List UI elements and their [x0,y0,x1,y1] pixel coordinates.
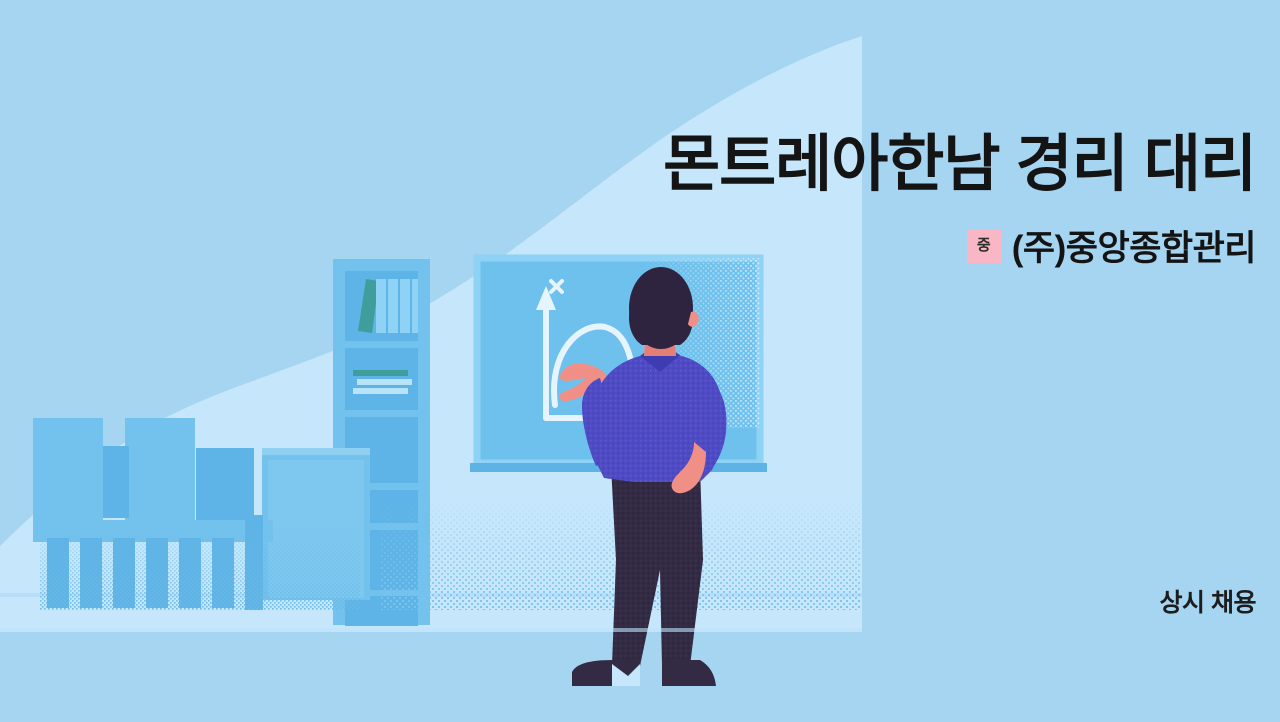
page-title: 몬트레아한남 경리 대리 [356,132,1256,199]
job-poster: 몬트레아한남 경리 대리 중 (주)중앙종합관리 상시 채용 [0,0,1280,722]
bookshelf-papers [353,370,412,394]
bookshelf-books [358,279,418,333]
chair-dither [40,520,360,610]
company-name: (주)중앙종합관리 [1012,220,1256,271]
hiring-type-label: 상시 채용 [1160,583,1256,619]
company-row: 중 (주)중앙종합관리 [967,220,1256,271]
office-illustration [0,0,1280,722]
company-badge: 중 [967,229,1001,263]
